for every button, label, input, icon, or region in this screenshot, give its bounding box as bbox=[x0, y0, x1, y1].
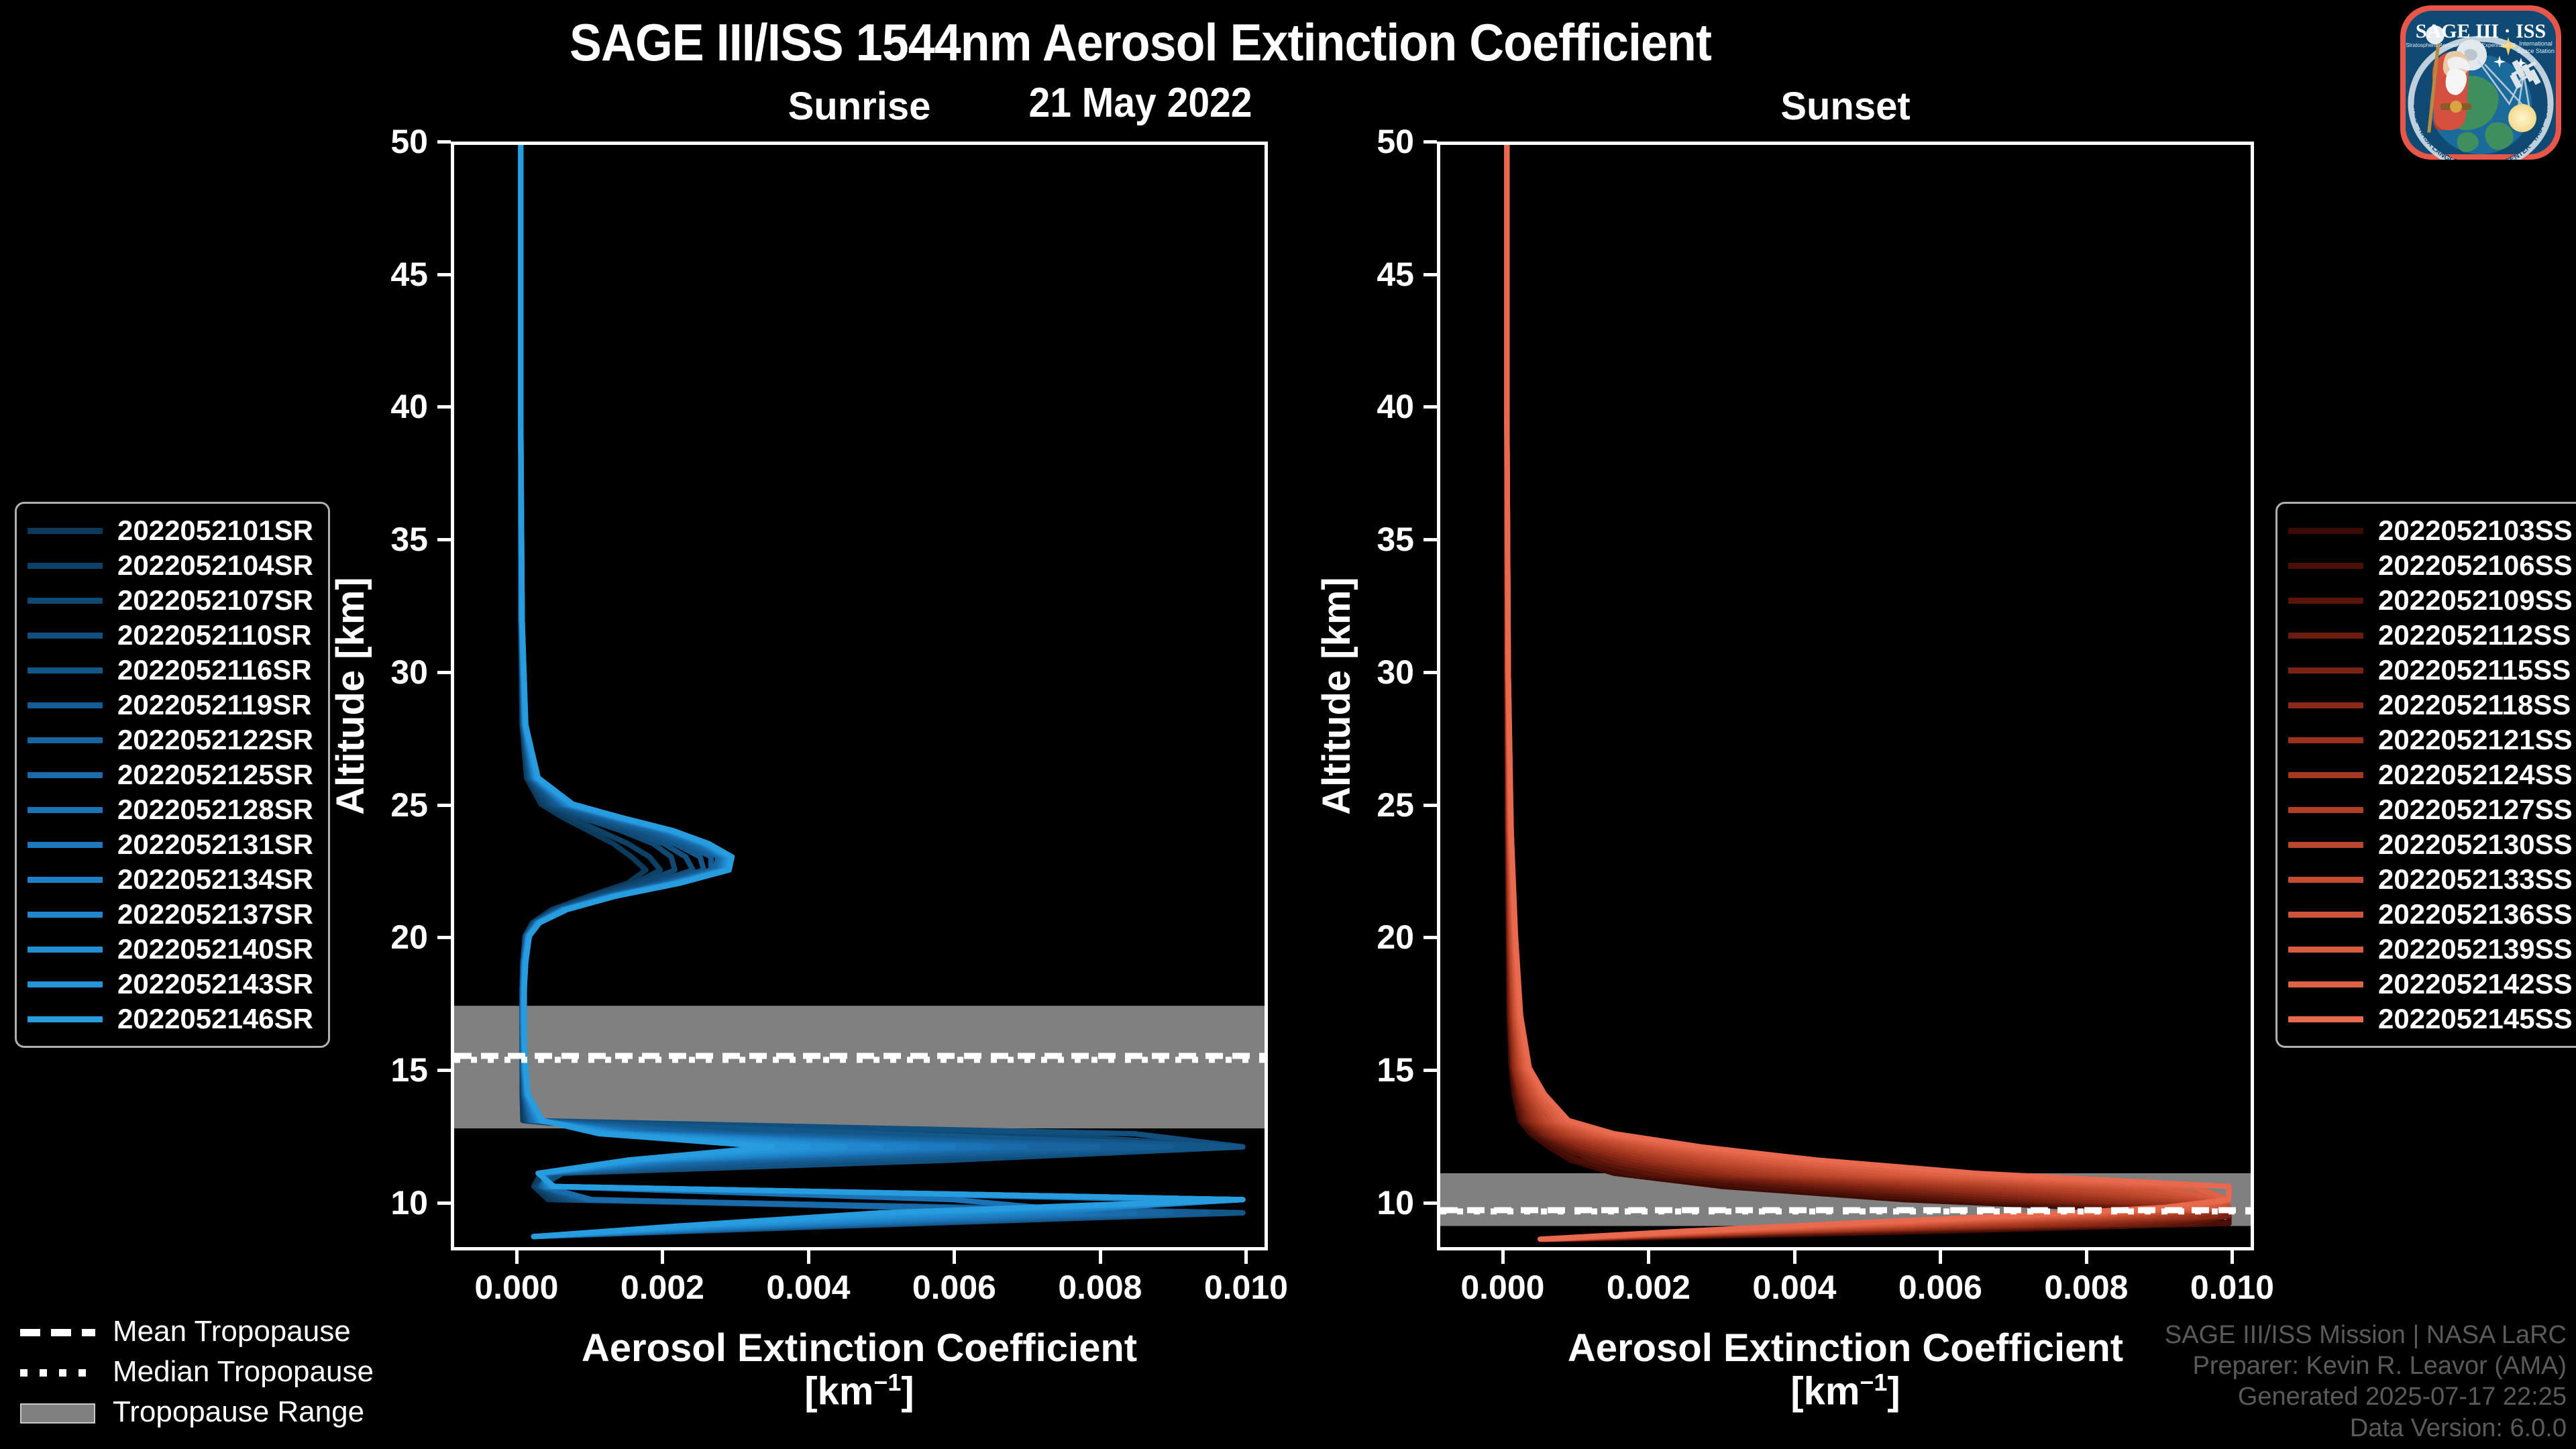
y-tick-label: 30 bbox=[1377, 653, 1414, 692]
legend-color-swatch bbox=[28, 1016, 103, 1022]
legend-item-label: 2022052116SR bbox=[117, 654, 312, 686]
x-tick-mark bbox=[1939, 1250, 1942, 1264]
legend-item-label: 2022052112SS bbox=[2378, 619, 2571, 651]
x-axis-sunrise: 0.0000.0020.0040.0060.0080.010 bbox=[451, 1250, 1268, 1331]
legend-item[interactable]: 2022052139SS bbox=[2288, 932, 2573, 967]
x-axis-units-text: [km−1] bbox=[451, 1370, 1268, 1413]
series-line bbox=[1507, 145, 2229, 1239]
legend-item-label: 2022052103SS bbox=[2378, 515, 2573, 547]
legend-item-label: 2022052142SS bbox=[2378, 968, 2573, 1000]
legend-color-swatch bbox=[2288, 912, 2363, 918]
tropopause-legend-label-median: Median Tropopause bbox=[113, 1355, 374, 1389]
x-tick-mark bbox=[661, 1250, 664, 1264]
y-tick-mark bbox=[1424, 405, 1437, 409]
legend-item[interactable]: 2022052136SS bbox=[2288, 897, 2573, 932]
legend-color-swatch bbox=[2288, 772, 2363, 778]
series-line bbox=[1507, 145, 2229, 1239]
legend-sunset[interactable]: 2022052103SS2022052106SS2022052109SS2022… bbox=[2275, 502, 2576, 1048]
tropopause-range-band bbox=[454, 1006, 1265, 1128]
y-tick-mark bbox=[437, 405, 451, 409]
tropopause-legend: Mean Tropopause Median Tropopause Tropop… bbox=[17, 1311, 374, 1432]
legend-item-label: 2022052128SR bbox=[117, 794, 313, 826]
x-tick-mark bbox=[1501, 1250, 1505, 1264]
legend-color-swatch bbox=[28, 981, 103, 987]
legend-item-label: 2022052106SS bbox=[2378, 549, 2573, 582]
y-tick-mark bbox=[1424, 1069, 1437, 1072]
legend-item[interactable]: 2022052146SR bbox=[28, 1002, 313, 1036]
legend-item[interactable]: 2022052127SS bbox=[2288, 792, 2573, 827]
mission-patch-icon: SAGE III · ISS Stratospheric Aerosol and… bbox=[2391, 3, 2571, 162]
x-tick-label: 0.002 bbox=[1607, 1268, 1690, 1307]
credits-block: SAGE III/ISS Mission | NASA LaRC Prepare… bbox=[2165, 1320, 2567, 1444]
y-tick-mark bbox=[437, 273, 451, 276]
x-tick-label: 0.010 bbox=[2190, 1268, 2274, 1307]
tropopause-legend-label-mean: Mean Tropopause bbox=[113, 1315, 351, 1348]
legend-color-swatch bbox=[2288, 807, 2363, 813]
legend-color-swatch bbox=[28, 598, 103, 604]
y-tick-label: 15 bbox=[390, 1051, 428, 1089]
y-tick-label: 10 bbox=[1377, 1183, 1414, 1222]
y-tick-label: 15 bbox=[1377, 1051, 1414, 1089]
y-tick-mark bbox=[437, 804, 451, 807]
x-tick-label: 0.004 bbox=[766, 1268, 850, 1307]
dotted-line-icon bbox=[17, 1362, 98, 1382]
legend-item-label: 2022052119SR bbox=[117, 689, 312, 721]
x-tick-mark bbox=[953, 1250, 956, 1264]
legend-color-swatch bbox=[2288, 563, 2363, 569]
legend-item[interactable]: 2022052119SR bbox=[28, 688, 313, 722]
y-tick-label: 35 bbox=[390, 520, 428, 559]
legend-item-label: 2022052136SS bbox=[2378, 898, 2573, 930]
legend-item-label: 2022052131SR bbox=[117, 828, 313, 861]
legend-item[interactable]: 2022052112SS bbox=[2288, 618, 2573, 653]
legend-item-label: 2022052109SS bbox=[2378, 584, 2573, 616]
legend-color-swatch bbox=[28, 528, 103, 534]
x-tick-mark bbox=[807, 1250, 810, 1264]
legend-item[interactable]: 2022052115SS bbox=[2288, 653, 2573, 688]
legend-color-swatch bbox=[2288, 702, 2363, 708]
y-tick-label: 30 bbox=[390, 653, 428, 692]
legend-item[interactable]: 2022052121SS bbox=[2288, 722, 2573, 757]
tropopause-legend-item-median: Median Tropopause bbox=[17, 1352, 374, 1392]
legend-color-swatch bbox=[2288, 947, 2363, 953]
legend-color-swatch bbox=[28, 807, 103, 813]
legend-item[interactable]: 2022052134SR bbox=[28, 862, 313, 897]
legend-item[interactable]: 2022052118SS bbox=[2288, 688, 2573, 722]
legend-item[interactable]: 2022052101SR bbox=[28, 513, 313, 548]
x-tick-label: 0.006 bbox=[1898, 1268, 1982, 1307]
legend-item-label: 2022052115SS bbox=[2378, 654, 2571, 686]
legend-item-label: 2022052118SS bbox=[2378, 689, 2571, 721]
plot-area-sunrise bbox=[451, 142, 1268, 1250]
credits-line-mission: SAGE III/ISS Mission | NASA LaRC bbox=[2165, 1320, 2567, 1350]
y-tick-label: 40 bbox=[1377, 387, 1414, 426]
tropopause-legend-item-mean: Mean Tropopause bbox=[17, 1311, 374, 1352]
series-line bbox=[1507, 145, 2229, 1239]
series-line bbox=[1507, 145, 2229, 1239]
x-tick-mark bbox=[1099, 1250, 1102, 1264]
legend-color-swatch bbox=[28, 702, 103, 708]
series-line bbox=[1507, 145, 2229, 1239]
legend-color-swatch bbox=[2288, 1016, 2363, 1022]
chart-canvas-sunset bbox=[1440, 145, 2251, 1247]
y-tick-mark bbox=[437, 538, 451, 541]
series-line bbox=[1507, 145, 2229, 1239]
legend-item-label: 2022052140SR bbox=[117, 933, 313, 965]
legend-item-label: 2022052121SS bbox=[2378, 724, 2573, 756]
legend-item[interactable]: 2022052140SR bbox=[28, 932, 313, 967]
legend-item[interactable]: 2022052145SS bbox=[2288, 1002, 2573, 1036]
y-tick-mark bbox=[437, 671, 451, 674]
x-tick-label: 0.008 bbox=[2044, 1268, 2128, 1307]
y-tick-label: 50 bbox=[390, 122, 428, 161]
x-tick-mark bbox=[2085, 1250, 2088, 1264]
plot-area-sunset bbox=[1437, 142, 2254, 1250]
legend-item-label: 2022052145SS bbox=[2378, 1003, 2573, 1035]
y-tick-mark bbox=[1424, 1201, 1437, 1205]
legend-color-swatch bbox=[28, 842, 103, 848]
y-tick-mark bbox=[1424, 538, 1437, 541]
legend-item[interactable]: 2022052142SS bbox=[2288, 967, 2573, 1002]
x-axis-title-text: Aerosol Extinction Coefficient bbox=[451, 1328, 1268, 1370]
y-tick-mark bbox=[1424, 671, 1437, 674]
logo-iss-line1: International bbox=[2519, 40, 2553, 47]
tropopause-legend-item-range: Tropopause Range bbox=[17, 1392, 374, 1432]
legend-item[interactable]: 2022052106SS bbox=[2288, 548, 2573, 583]
legend-color-swatch bbox=[2288, 667, 2363, 674]
series-line bbox=[1507, 145, 2229, 1239]
plot-inner-sunset bbox=[1440, 145, 2251, 1247]
x-tick-mark bbox=[1647, 1250, 1650, 1264]
y-tick-label: 10 bbox=[390, 1183, 428, 1222]
x-tick-label: 0.000 bbox=[474, 1268, 558, 1307]
x-axis-label-sunset: Aerosol Extinction Coefficient[km−1] bbox=[1437, 1328, 2254, 1413]
legend-color-swatch bbox=[28, 667, 103, 674]
y-tick-mark bbox=[1424, 273, 1437, 276]
tropopause-legend-label-range: Tropopause Range bbox=[113, 1395, 364, 1429]
y-tick-mark bbox=[437, 1069, 451, 1072]
legend-color-swatch bbox=[28, 947, 103, 953]
legend-color-swatch bbox=[28, 912, 103, 918]
legend-item-label: 2022052101SR bbox=[117, 515, 313, 547]
x-tick-label: 0.010 bbox=[1204, 1268, 1288, 1307]
logo-title: SAGE III · ISS bbox=[2416, 20, 2546, 42]
legend-item[interactable]: 2022052104SR bbox=[28, 548, 313, 583]
x-tick-label: 0.002 bbox=[621, 1268, 704, 1307]
legend-item-label: 2022052143SR bbox=[117, 968, 313, 1000]
legend-item-label: 2022052146SR bbox=[117, 1003, 313, 1035]
legend-item[interactable]: 2022052110SR bbox=[28, 618, 313, 653]
legend-item-label: 2022052134SR bbox=[117, 863, 313, 896]
y-tick-mark bbox=[1424, 936, 1437, 939]
x-tick-label: 0.006 bbox=[912, 1268, 996, 1307]
plot-inner-sunrise bbox=[454, 145, 1265, 1247]
legend-item[interactable]: 2022052122SR bbox=[28, 722, 313, 757]
panel-title-sunset: Sunset bbox=[1437, 84, 2254, 129]
y-tick-mark bbox=[437, 140, 451, 144]
legend-color-swatch bbox=[2288, 737, 2363, 743]
legend-color-swatch bbox=[2288, 633, 2363, 639]
credits-line-preparer: Preparer: Kevin R. Leavor (AMA) bbox=[2165, 1350, 2567, 1381]
y-tick-label: 20 bbox=[1377, 918, 1414, 957]
series-line bbox=[1507, 145, 2229, 1239]
legend-color-swatch bbox=[2288, 598, 2363, 604]
x-tick-label: 0.004 bbox=[1752, 1268, 1836, 1307]
x-axis-label-sunrise: Aerosol Extinction Coefficient[km−1] bbox=[451, 1328, 1268, 1413]
legend-item-label: 2022052127SS bbox=[2378, 794, 2573, 826]
legend-color-swatch bbox=[28, 633, 103, 639]
y-tick-label: 25 bbox=[390, 786, 428, 824]
series-line bbox=[1507, 145, 2229, 1239]
y-tick-mark bbox=[1424, 140, 1437, 144]
legend-item-label: 2022052133SS bbox=[2378, 863, 2573, 896]
legend-item[interactable]: 2022052124SS bbox=[2288, 757, 2573, 792]
series-line bbox=[1507, 145, 2229, 1239]
credits-line-version: Data Version: 6.0.0 bbox=[2165, 1413, 2567, 1444]
legend-item[interactable]: 2022052103SS bbox=[2288, 513, 2573, 548]
y-tick-label: 45 bbox=[390, 255, 428, 294]
legend-item[interactable]: 2022052137SR bbox=[28, 897, 313, 932]
y-tick-label: 25 bbox=[1377, 786, 1414, 824]
x-tick-mark bbox=[1793, 1250, 1796, 1264]
legend-item[interactable]: 2022052128SR bbox=[28, 792, 313, 827]
figure-title: SAGE III/ISS 1544nm Aerosol Extinction C… bbox=[91, 12, 2190, 73]
x-axis-title-text: Aerosol Extinction Coefficient bbox=[1437, 1328, 2254, 1370]
logo-subtitle: Stratospheric Aerosol and Gas Experiment… bbox=[2406, 42, 2516, 48]
legend-color-swatch bbox=[28, 877, 103, 883]
legend-item-label: 2022052125SR bbox=[117, 759, 313, 791]
series-line bbox=[1507, 145, 2229, 1239]
legend-item[interactable]: 2022052130SS bbox=[2288, 827, 2573, 862]
series-line bbox=[1507, 145, 2229, 1239]
y-axis-label-sunset: Altitude [km] bbox=[1314, 142, 1359, 1250]
legend-color-swatch bbox=[28, 563, 103, 569]
x-tick-mark bbox=[2231, 1250, 2234, 1264]
sage-iii-iss-logo: SAGE III · ISS Stratospheric Aerosol and… bbox=[2391, 3, 2571, 162]
dashed-line-icon bbox=[17, 1322, 98, 1342]
series-line bbox=[1507, 145, 2229, 1239]
legend-item-label: 2022052107SR bbox=[117, 584, 313, 616]
y-tick-label: 20 bbox=[390, 918, 428, 957]
legend-item-label: 2022052110SR bbox=[117, 619, 312, 651]
y-tick-mark bbox=[437, 936, 451, 939]
x-tick-mark bbox=[515, 1250, 519, 1264]
legend-item[interactable]: 2022052107SR bbox=[28, 583, 313, 618]
legend-item-label: 2022052139SS bbox=[2378, 933, 2573, 965]
logo-iss-line2: Space Station bbox=[2517, 48, 2555, 54]
y-tick-label: 35 bbox=[1377, 520, 1414, 559]
legend-item[interactable]: 2022052143SR bbox=[28, 967, 313, 1002]
x-tick-label: 0.008 bbox=[1058, 1268, 1142, 1307]
legend-item-label: 2022052130SS bbox=[2378, 828, 2573, 861]
chart-canvas-sunrise bbox=[454, 145, 1265, 1247]
y-tick-label: 40 bbox=[390, 387, 428, 426]
legend-color-swatch bbox=[28, 737, 103, 743]
legend-item[interactable]: 2022052116SR bbox=[28, 653, 313, 688]
panel-title-sunrise: Sunrise bbox=[451, 84, 1268, 129]
legend-color-swatch bbox=[2288, 842, 2363, 848]
legend-item-label: 2022052137SR bbox=[117, 898, 313, 930]
y-tick-label: 50 bbox=[1377, 122, 1414, 161]
y-tick-label: 45 bbox=[1377, 255, 1414, 294]
shaded-band-icon bbox=[17, 1402, 98, 1422]
legend-item[interactable]: 2022052125SR bbox=[28, 757, 313, 792]
legend-item-label: 2022052104SR bbox=[117, 549, 313, 582]
x-axis-units-text: [km−1] bbox=[1437, 1370, 2254, 1413]
legend-color-swatch bbox=[28, 772, 103, 778]
legend-color-swatch bbox=[2288, 877, 2363, 883]
series-line bbox=[1507, 145, 2229, 1239]
x-tick-mark bbox=[1244, 1250, 1248, 1264]
y-tick-mark bbox=[437, 1201, 451, 1205]
legend-item-label: 2022052122SR bbox=[117, 724, 313, 756]
legend-color-swatch bbox=[2288, 528, 2363, 534]
legend-item[interactable]: 2022052109SS bbox=[2288, 583, 2573, 618]
legend-item[interactable]: 2022052131SR bbox=[28, 827, 313, 862]
x-axis-sunset: 0.0000.0020.0040.0060.0080.010 bbox=[1437, 1250, 2254, 1331]
legend-color-swatch bbox=[2288, 981, 2363, 987]
x-tick-label: 0.000 bbox=[1460, 1268, 1544, 1307]
legend-item-label: 2022052124SS bbox=[2378, 759, 2573, 791]
legend-item[interactable]: 2022052133SS bbox=[2288, 862, 2573, 897]
credits-line-generated: Generated 2025-07-17 22:25 bbox=[2165, 1381, 2567, 1412]
y-tick-mark bbox=[1424, 804, 1437, 807]
legend-sunrise[interactable]: 2022052101SR2022052104SR2022052107SR2022… bbox=[15, 502, 330, 1048]
y-axis-label-sunrise: Altitude [km] bbox=[328, 142, 373, 1250]
figure-root: SAGE III/ISS 1544nm Aerosol Extinction C… bbox=[0, 0, 2576, 1449]
series-line bbox=[1507, 145, 2229, 1239]
